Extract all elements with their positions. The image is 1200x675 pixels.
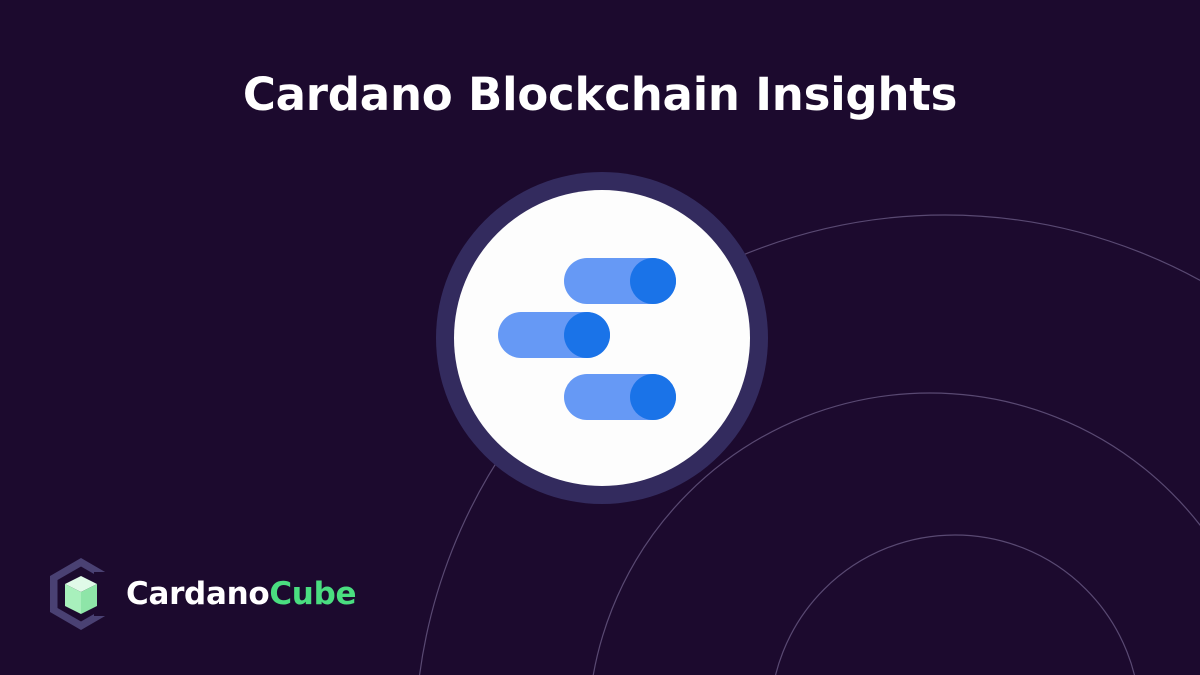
sliders-icon bbox=[436, 172, 768, 504]
brand-name-primary: Cardano bbox=[126, 576, 269, 612]
cardano-cube-hexagon-icon bbox=[50, 558, 112, 630]
poster-canvas: Cardano Blockchain Insights bbox=[0, 0, 1200, 675]
brand-name-accent: Cube bbox=[269, 576, 356, 612]
brand-lockup[interactable]: CardanoCube bbox=[50, 558, 356, 630]
sliders-logo-badge bbox=[436, 172, 768, 504]
decor-ring-inner bbox=[770, 535, 1140, 675]
brand-wordmark: CardanoCube bbox=[126, 579, 356, 610]
slider-knob bbox=[564, 312, 610, 358]
slider-knob bbox=[630, 374, 676, 420]
slider-knob bbox=[630, 258, 676, 304]
page-title: Cardano Blockchain Insights bbox=[0, 68, 1200, 122]
